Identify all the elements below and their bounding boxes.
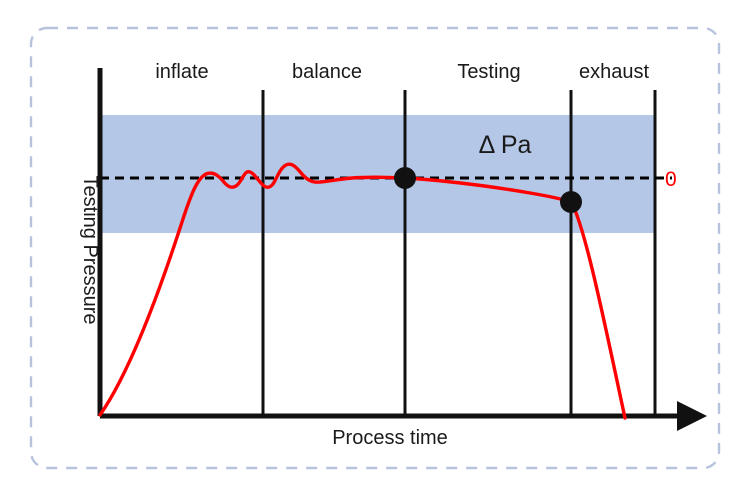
y-axis-label: Testing Pressure <box>79 176 101 325</box>
zero-label: 0 <box>665 168 677 191</box>
x-axis-label: Process time <box>332 427 448 449</box>
test-end-marker <box>560 191 582 213</box>
test-start-marker <box>394 167 416 189</box>
delta-pa-label: Δ Pa <box>479 131 532 159</box>
chart-figure: inflate balance Testing exhaust Δ Pa 0 P… <box>0 0 750 494</box>
figure-dashed-border <box>31 28 719 468</box>
phase-label-exhaust: exhaust <box>579 61 649 83</box>
phase-label-balance: balance <box>292 61 362 83</box>
phase-label-testing: Testing <box>457 61 520 83</box>
phase-label-inflate: inflate <box>155 61 208 83</box>
pressure-process-chart: inflate balance Testing exhaust Δ Pa 0 P… <box>0 0 750 494</box>
